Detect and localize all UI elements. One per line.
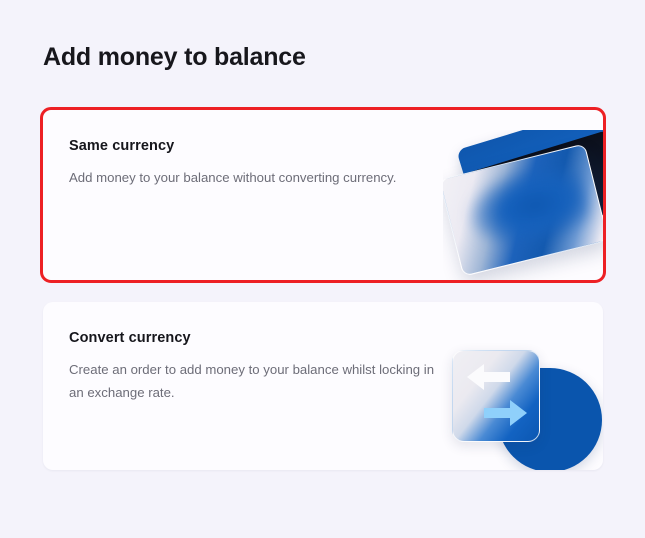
exchange-tile-icon	[452, 350, 540, 442]
option-heading: Same currency	[69, 138, 174, 154]
arrow-right-icon	[484, 400, 527, 426]
option-card-convert-currency[interactable]: Convert currency Create an order to add …	[43, 302, 603, 470]
exchange-arrows-icon	[448, 350, 603, 470]
arrows-swap-icon	[453, 351, 540, 442]
stacked-payment-cards-icon	[443, 130, 603, 280]
option-description: Create an order to add money to your bal…	[69, 358, 449, 404]
option-heading: Convert currency	[69, 330, 191, 346]
page-title: Add money to balance	[43, 40, 306, 74]
add-money-page: Add money to balance Same currency Add m…	[0, 0, 645, 538]
option-description: Add money to your balance without conver…	[69, 166, 449, 189]
arrow-left-icon	[467, 364, 510, 390]
option-card-same-currency[interactable]: Same currency Add money to your balance …	[43, 110, 603, 280]
